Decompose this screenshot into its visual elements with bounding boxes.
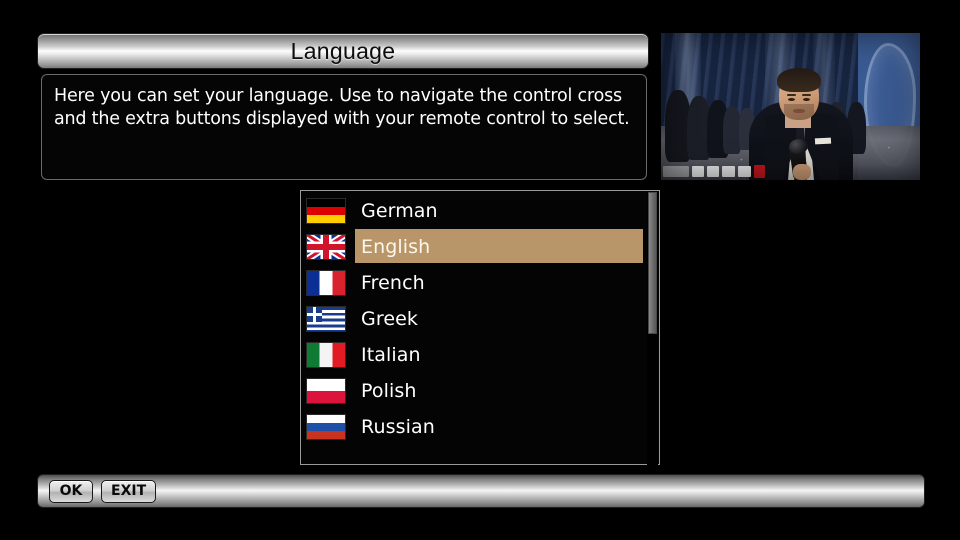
list-item[interactable]: English <box>301 229 645 265</box>
broadcaster-logo-letter <box>692 166 704 177</box>
list-item[interactable]: Greek <box>301 301 645 337</box>
flag-russia-icon <box>306 414 346 440</box>
video-reporter-eye <box>788 98 795 101</box>
language-list-scrollbar[interactable] <box>647 192 658 465</box>
flag-france-icon <box>306 270 346 296</box>
video-reporter-eye <box>803 98 810 101</box>
list-item[interactable]: Italian <box>301 337 645 373</box>
video-reporter-hair <box>777 68 821 92</box>
page-title: Language <box>291 38 396 65</box>
broadcaster-logo <box>663 164 789 178</box>
broadcaster-logo-accent <box>754 165 765 178</box>
video-reporter-eyebrow <box>802 94 811 97</box>
flag-greece-icon <box>306 306 346 332</box>
description-text: Here you can set your language. Use to n… <box>54 85 634 131</box>
list-item-label: English <box>361 236 430 258</box>
video-reporter-pocket-square <box>815 138 831 145</box>
list-item-label: Polish <box>361 380 417 402</box>
list-item[interactable]: German <box>301 193 645 229</box>
bottom-action-bar: OK EXIT <box>37 474 925 508</box>
list-item[interactable]: French <box>301 265 645 301</box>
page-title-bar: Language <box>37 33 649 69</box>
video-reporter-mouth <box>793 109 805 113</box>
language-list: German English French <box>301 193 645 445</box>
list-item-label: Greek <box>361 308 418 330</box>
broadcaster-logo-letter <box>722 166 735 177</box>
video-reporter-hand <box>793 164 811 180</box>
list-item-label: Italian <box>361 344 421 366</box>
ok-button[interactable]: OK <box>49 480 93 503</box>
flag-poland-icon <box>306 378 346 404</box>
scrollbar-thumb[interactable] <box>648 192 657 334</box>
description-panel: Here you can set your language. Use to n… <box>41 74 647 180</box>
exit-button[interactable]: EXIT <box>101 480 156 503</box>
broadcaster-logo-letter <box>738 166 751 177</box>
list-item-label: French <box>361 272 425 294</box>
live-tv-preview[interactable] <box>661 33 920 180</box>
language-list-panel: German English French <box>300 190 660 465</box>
tv-settings-screen: Language Here you can set your language.… <box>0 0 960 540</box>
flag-united-kingdom-icon <box>306 234 346 260</box>
broadcaster-logo-mark <box>663 166 689 177</box>
flag-germany-icon <box>306 198 346 224</box>
flag-italy-icon <box>306 342 346 368</box>
list-item-label: Russian <box>361 416 435 438</box>
broadcaster-logo-letter <box>707 166 719 177</box>
list-item[interactable]: Polish <box>301 373 645 409</box>
list-item[interactable]: Russian <box>301 409 645 445</box>
video-reporter-eyebrow <box>787 94 796 97</box>
list-item-label: German <box>361 200 438 222</box>
